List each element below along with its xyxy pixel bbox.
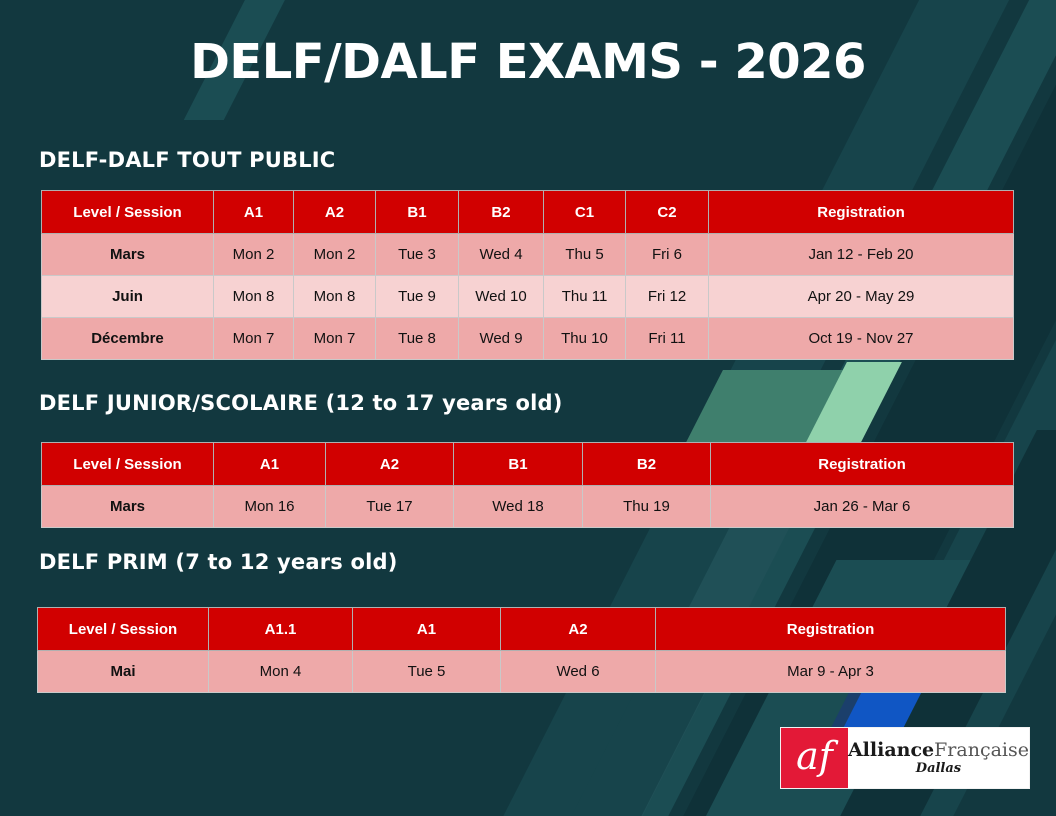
cell-a1: Mon 7 xyxy=(214,318,294,360)
cell-session: Mai xyxy=(38,651,209,693)
cell-b1: Tue 3 xyxy=(376,234,459,276)
cell-a2: Mon 8 xyxy=(294,276,376,318)
column-header-a2: A2 xyxy=(326,443,454,486)
slide-canvas: DELF/DALF EXAMS - 2026 DELF-DALF TOUT PU… xyxy=(0,0,1056,816)
cell-c2: Fri 12 xyxy=(626,276,709,318)
logo-name-alliance: Alliance xyxy=(848,739,934,761)
cell-registration: Oct 19 - Nov 27 xyxy=(709,318,1014,360)
cell-a2: Tue 17 xyxy=(326,486,454,528)
cell-c1: Thu 11 xyxy=(544,276,626,318)
cell-a1: Tue 5 xyxy=(353,651,501,693)
cell-b2: Wed 10 xyxy=(459,276,544,318)
cell-c1: Thu 5 xyxy=(544,234,626,276)
cell-a2: Wed 6 xyxy=(501,651,656,693)
cell-a11: Mon 4 xyxy=(209,651,353,693)
cell-b1: Wed 18 xyxy=(454,486,583,528)
column-header-level-session: Level / Session xyxy=(42,443,214,486)
column-header-registration: Registration xyxy=(709,191,1014,234)
table-header-row: Level / Session A1.1 A1 A2 Registration xyxy=(38,608,1006,651)
table-junior-scolaire: Level / Session A1 A2 B1 B2 Registration… xyxy=(41,442,1014,528)
cell-registration: Mar 9 - Apr 3 xyxy=(656,651,1006,693)
slide-title: DELF/DALF EXAMS - 2026 xyxy=(0,34,1056,90)
column-header-b2: B2 xyxy=(459,191,544,234)
column-header-b1: B1 xyxy=(376,191,459,234)
column-header-a1: A1 xyxy=(353,608,501,651)
cell-b2: Wed 4 xyxy=(459,234,544,276)
column-header-a2: A2 xyxy=(501,608,656,651)
logo-name: AllianceFrançaise xyxy=(848,741,1029,761)
section-heading-junior-scolaire: DELF JUNIOR/SCOLAIRE (12 to 17 years old… xyxy=(39,391,563,415)
column-header-level-session: Level / Session xyxy=(38,608,209,651)
logo-af-mark: af xyxy=(781,728,848,788)
column-header-b2: B2 xyxy=(583,443,711,486)
cell-c1: Thu 10 xyxy=(544,318,626,360)
cell-session: Décembre xyxy=(42,318,214,360)
alliance-francaise-logo: af AllianceFrançaise Dallas xyxy=(780,727,1030,789)
column-header-level-session: Level / Session xyxy=(42,191,214,234)
column-header-a2: A2 xyxy=(294,191,376,234)
cell-session: Mars xyxy=(42,234,214,276)
column-header-b1: B1 xyxy=(454,443,583,486)
cell-session: Juin xyxy=(42,276,214,318)
section-heading-prim: DELF PRIM (7 to 12 years old) xyxy=(39,550,398,574)
cell-a2: Mon 2 xyxy=(294,234,376,276)
cell-c2: Fri 6 xyxy=(626,234,709,276)
cell-b1: Tue 8 xyxy=(376,318,459,360)
table-prim: Level / Session A1.1 A1 A2 Registration … xyxy=(37,607,1006,693)
column-header-c1: C1 xyxy=(544,191,626,234)
cell-b1: Tue 9 xyxy=(376,276,459,318)
column-header-a1: A1 xyxy=(214,191,294,234)
column-header-a11: A1.1 xyxy=(209,608,353,651)
cell-c2: Fri 11 xyxy=(626,318,709,360)
logo-wordmark: AllianceFrançaise Dallas xyxy=(848,728,1029,788)
column-header-registration: Registration xyxy=(656,608,1006,651)
cell-a2: Mon 7 xyxy=(294,318,376,360)
section-heading-tout-public: DELF-DALF TOUT PUBLIC xyxy=(39,148,335,172)
cell-a1: Mon 16 xyxy=(214,486,326,528)
logo-city: Dallas xyxy=(916,762,961,776)
table-header-row: Level / Session A1 A2 B1 B2 C1 C2 Regist… xyxy=(42,191,1014,234)
cell-b2: Wed 9 xyxy=(459,318,544,360)
table-tout-public: Level / Session A1 A2 B1 B2 C1 C2 Regist… xyxy=(41,190,1014,360)
cell-a1: Mon 8 xyxy=(214,276,294,318)
table-row: Juin Mon 8 Mon 8 Tue 9 Wed 10 Thu 11 Fri… xyxy=(42,276,1014,318)
column-header-c2: C2 xyxy=(626,191,709,234)
table-header-row: Level / Session A1 A2 B1 B2 Registration xyxy=(42,443,1014,486)
table-row: Mars Mon 2 Mon 2 Tue 3 Wed 4 Thu 5 Fri 6… xyxy=(42,234,1014,276)
cell-registration: Apr 20 - May 29 xyxy=(709,276,1014,318)
cell-b2: Thu 19 xyxy=(583,486,711,528)
cell-registration: Jan 26 - Mar 6 xyxy=(711,486,1014,528)
column-header-registration: Registration xyxy=(711,443,1014,486)
cell-a1: Mon 2 xyxy=(214,234,294,276)
table-row: Mars Mon 16 Tue 17 Wed 18 Thu 19 Jan 26 … xyxy=(42,486,1014,528)
cell-registration: Jan 12 - Feb 20 xyxy=(709,234,1014,276)
column-header-a1: A1 xyxy=(214,443,326,486)
table-row: Mai Mon 4 Tue 5 Wed 6 Mar 9 - Apr 3 xyxy=(38,651,1006,693)
cell-session: Mars xyxy=(42,486,214,528)
table-row: Décembre Mon 7 Mon 7 Tue 8 Wed 9 Thu 10 … xyxy=(42,318,1014,360)
logo-name-francaise: Française xyxy=(934,739,1029,761)
